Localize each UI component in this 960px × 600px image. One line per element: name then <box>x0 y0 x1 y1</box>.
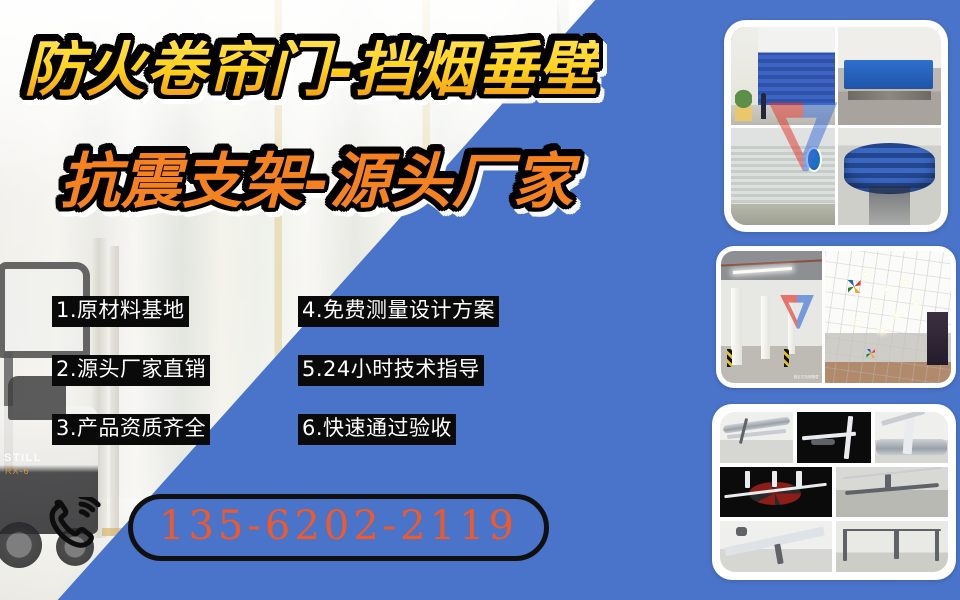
photo-downlight <box>884 287 889 292</box>
photo-bracket-frame-room <box>836 521 948 572</box>
photo-fan-shaft <box>885 474 891 490</box>
photo-person <box>761 93 766 118</box>
gallery-panel-fire-shutter[interactable] <box>724 20 948 232</box>
photo-ceiling-line <box>843 467 941 479</box>
photo-underground-parking-garage-interior: 固定式挡烟垂壁 <box>721 251 822 383</box>
phone-number-pill[interactable]: 135-6202-2119 <box>128 494 549 561</box>
forklift-wheel-front <box>0 522 42 568</box>
feature-item-1: 1.原材料基地 <box>52 296 189 327</box>
photo-column <box>731 288 742 365</box>
photo-frame-post <box>935 529 939 560</box>
feature-item-5: 5.24小时技术指导 <box>298 355 484 386</box>
photo-fan-blade <box>845 483 939 495</box>
gallery-panel-project-site[interactable]: 固定式挡烟垂壁 <box>716 246 956 388</box>
photo-caption: 固定式挡烟垂壁 <box>794 374 819 379</box>
photo-downlight <box>880 328 885 333</box>
feature-item-6: 6.快速通过验收 <box>298 414 456 445</box>
photo-light-strip <box>733 267 792 274</box>
photo-floor-band <box>731 105 835 125</box>
photo-bracket-large-ceiling-fan <box>836 467 948 518</box>
photo-blue-shutter-curtain-drum <box>838 128 942 226</box>
photo-bracket-dark-fan-unit <box>720 467 832 518</box>
photo-grey-rolling-shutter-corridor <box>731 128 835 226</box>
photo-bracket-bar <box>881 412 925 426</box>
photo-ceiling-with-downlights-and-pinwheels <box>825 251 951 383</box>
gallery-grid-top <box>731 27 941 225</box>
forklift-brand-label: STILL <box>4 452 42 464</box>
gallery-panel-seismic-brackets[interactable] <box>712 404 956 580</box>
gallery-grid-bottom <box>720 412 948 572</box>
photo-dark-panel <box>927 312 948 365</box>
photo-bracket-hanger <box>772 471 778 487</box>
photo-bracket-hanger <box>796 471 802 488</box>
photo-ceiling-pipe <box>721 259 822 266</box>
feature-list: 1.原材料基地 4.免费测量设计方案 2.源头厂家直销 5.24小时技术指导 3… <box>52 296 572 445</box>
photo-floor-band <box>731 204 835 225</box>
photo-frame-post <box>843 529 847 560</box>
photo-downlight <box>863 272 868 277</box>
promo-poster: STILL RX-6 防火卷帘门-挡烟垂壁 抗震支架-源头厂家 1.原材料基地 … <box>0 0 960 600</box>
headline-primary: 防火卷帘门-挡烟垂壁 <box>24 40 599 100</box>
photo-bracket-pipe-clamp-closeup <box>875 412 948 463</box>
photo-frame-rail <box>843 529 942 531</box>
feature-item-2: 2.源头厂家直销 <box>52 355 210 386</box>
photo-hazard-stripe <box>727 349 732 367</box>
photo-bracket-hanger <box>745 471 751 488</box>
photo-blue-roll-forming-machine-workshop <box>838 27 942 125</box>
photo-bracket-duct-support <box>720 521 832 572</box>
phone-call-icon <box>44 497 106 559</box>
photo-downlight <box>855 320 860 325</box>
headline-secondary: 抗震支架-源头厂家 <box>60 152 574 212</box>
photo-hazard-stripe <box>784 349 789 367</box>
photo-bracket-clamp <box>736 527 747 535</box>
photo-column <box>761 296 770 359</box>
photo-frame-post <box>894 529 898 558</box>
photo-blue-rolling-shutter-door-lobby <box>731 27 835 125</box>
photo-bracket-post <box>844 416 854 459</box>
photo-bracket-dark-detail-clamp <box>797 412 870 463</box>
gallery-grid-middle: 固定式挡烟垂壁 <box>721 251 951 383</box>
phone-number-text: 135-6202-2119 <box>159 503 518 549</box>
feature-item-4: 4.免费测量设计方案 <box>298 296 499 327</box>
photo-bracket-ceiling-pipe-run <box>720 412 793 463</box>
photo-column <box>788 299 795 354</box>
contact-phone-row[interactable]: 135-6202-2119 <box>44 494 549 561</box>
photo-downlight <box>873 304 878 309</box>
photo-wall-sign-icon <box>806 147 823 172</box>
feature-item-3: 3.产品资质齐全 <box>52 414 210 445</box>
photo-clamp <box>811 439 836 445</box>
forklift-model-label: RX-6 <box>5 466 30 476</box>
photo-bracket-strut <box>774 543 783 564</box>
